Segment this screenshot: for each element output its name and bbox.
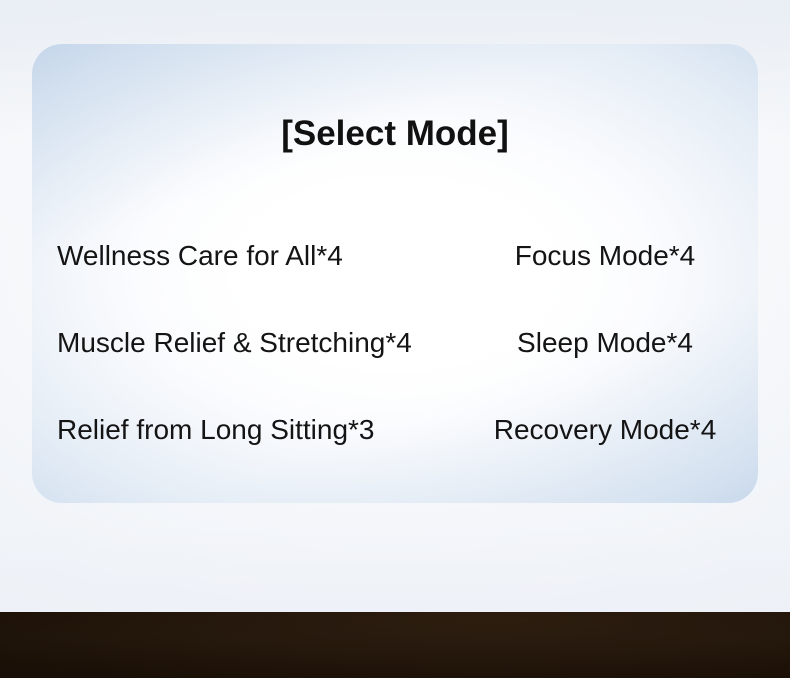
mode-row: Wellness Care for All*4 Focus Mode*4 [32, 212, 758, 299]
page-title: [Select Mode] [32, 112, 758, 156]
screen-root: [Select Mode] Wellness Care for All*4 Fo… [0, 0, 790, 678]
mode-option-recovery-mode[interactable]: Recovery Mode*4 [452, 412, 758, 448]
mode-option-focus-mode[interactable]: Focus Mode*4 [452, 238, 758, 274]
mode-row: Muscle Relief & Stretching*4 Sleep Mode*… [32, 299, 758, 386]
bottom-dark-band [0, 612, 790, 678]
mode-option-relief-from-long-sitting[interactable]: Relief from Long Sitting*3 [32, 412, 452, 448]
mode-row: Relief from Long Sitting*3 Recovery Mode… [32, 386, 758, 473]
mode-option-muscle-relief-and-stretching[interactable]: Muscle Relief & Stretching*4 [32, 325, 452, 361]
mode-option-sleep-mode[interactable]: Sleep Mode*4 [452, 325, 758, 361]
select-mode-card: [Select Mode] Wellness Care for All*4 Fo… [32, 44, 758, 503]
mode-list: Wellness Care for All*4 Focus Mode*4 Mus… [32, 212, 758, 473]
mode-option-wellness-care-for-all[interactable]: Wellness Care for All*4 [32, 238, 452, 274]
